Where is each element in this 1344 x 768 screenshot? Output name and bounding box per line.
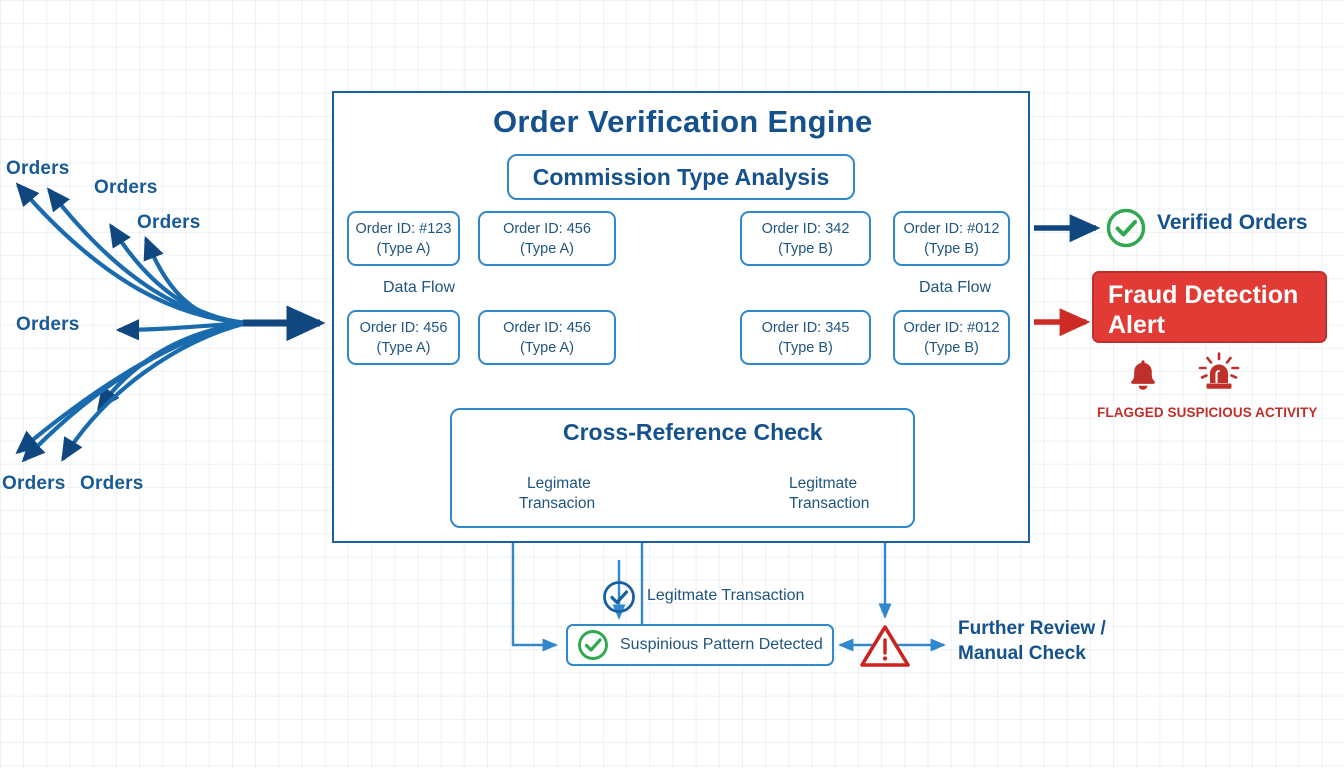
siren-icon — [1196, 352, 1242, 392]
order-node-left-4-text: Order ID: 456 (Type A) — [480, 318, 614, 358]
order-node-left-1-type: (Type A) — [377, 241, 431, 257]
inbound-order-arrows — [18, 185, 247, 460]
order-node-left-3-text: Order ID: 456 (Type A) — [349, 318, 458, 358]
order-node-left-4[interactable]: Order ID: 456 (Type A) — [478, 310, 616, 365]
order-node-right-4-id: Order ID: #012 — [904, 320, 1000, 336]
order-node-left-4-id: Order ID: 456 — [503, 320, 591, 336]
orders-label-1: Orders — [6, 158, 70, 180]
legitimate-transaction-label: Legitmate Transaction — [647, 587, 804, 605]
fraud-detection-alert-label: Fraud Detection Alert — [1108, 281, 1298, 339]
order-node-left-4-type: (Type A) — [520, 340, 574, 356]
order-node-right-2-id: Order ID: #012 — [904, 221, 1000, 237]
suspicious-pattern-detected-label: Suspinious Pattern Detected — [620, 636, 823, 654]
orders-label-5: Orders — [2, 473, 66, 495]
order-node-right-4[interactable]: Order ID: #012 (Type B) — [893, 310, 1010, 365]
order-node-left-2-text: Order ID: 456 (Type A) — [480, 219, 614, 259]
fraud-detection-alert-box[interactable]: Fraud Detection Alert — [1092, 271, 1327, 343]
warning-triangle-icon — [858, 622, 912, 670]
cross-reference-check-box[interactable] — [450, 408, 915, 528]
order-node-left-1[interactable]: Order ID: #123 (Type A) — [347, 211, 460, 266]
order-node-right-3-text: Order ID: 345 (Type B) — [742, 318, 869, 358]
order-node-right-1-id: Order ID: 342 — [762, 221, 850, 237]
order-node-left-2[interactable]: Order ID: 456 (Type A) — [478, 211, 616, 266]
order-node-right-3-id: Order ID: 345 — [762, 320, 850, 336]
orders-label-4: Orders — [16, 314, 80, 336]
order-node-left-2-id: Order ID: 456 — [503, 221, 591, 237]
order-node-right-2-text: Order ID: #012 (Type B) — [895, 219, 1008, 259]
order-node-right-4-type: (Type B) — [924, 340, 979, 356]
order-node-right-2[interactable]: Order ID: #012 (Type B) — [893, 211, 1010, 266]
order-node-left-3[interactable]: Order ID: 456 (Type A) — [347, 310, 460, 365]
orders-label-3: Orders — [137, 212, 201, 234]
order-node-left-3-type: (Type A) — [377, 340, 431, 356]
order-node-left-2-type: (Type A) — [520, 241, 574, 257]
order-node-left-1-text: Order ID: #123 (Type A) — [349, 219, 458, 259]
order-node-right-3[interactable]: Order ID: 345 (Type B) — [740, 310, 871, 365]
further-review-label-line2: Manual Check — [958, 641, 1086, 666]
order-node-left-3-id: Order ID: 456 — [360, 320, 448, 336]
order-node-right-3-type: (Type B) — [778, 340, 833, 356]
commission-type-analysis-title: Commission Type Analysis — [533, 164, 830, 191]
suspicious-pattern-check-icon — [576, 628, 610, 662]
diagram-canvas: Orders Orders Orders Orders Orders Order… — [0, 0, 1344, 768]
flagged-suspicious-activity-label: FLAGGED SUSPICIOUS ACTIVITY — [1097, 405, 1317, 420]
verified-check-icon — [1104, 206, 1148, 250]
order-node-right-1-text: Order ID: 342 (Type B) — [742, 219, 869, 259]
commission-type-analysis-box[interactable]: Commission Type Analysis — [507, 154, 855, 200]
order-node-right-2-type: (Type B) — [924, 241, 979, 257]
order-node-right-1[interactable]: Order ID: 342 (Type B) — [740, 211, 871, 266]
order-node-right-1-type: (Type B) — [778, 241, 833, 257]
orders-label-2: Orders — [94, 177, 158, 199]
suspicious-pattern-detected-box[interactable]: Suspinious Pattern Detected — [566, 624, 834, 666]
verified-orders-label: Verified Orders — [1157, 211, 1308, 235]
order-node-right-4-text: Order ID: #012 (Type B) — [895, 318, 1008, 358]
order-node-left-1-id: Order ID: #123 — [356, 221, 452, 237]
orders-label-6: Orders — [80, 473, 144, 495]
legitimate-transaction-check-icon — [601, 579, 637, 615]
bell-icon — [1126, 357, 1160, 391]
further-review-label-line1: Further Review / — [958, 616, 1106, 641]
